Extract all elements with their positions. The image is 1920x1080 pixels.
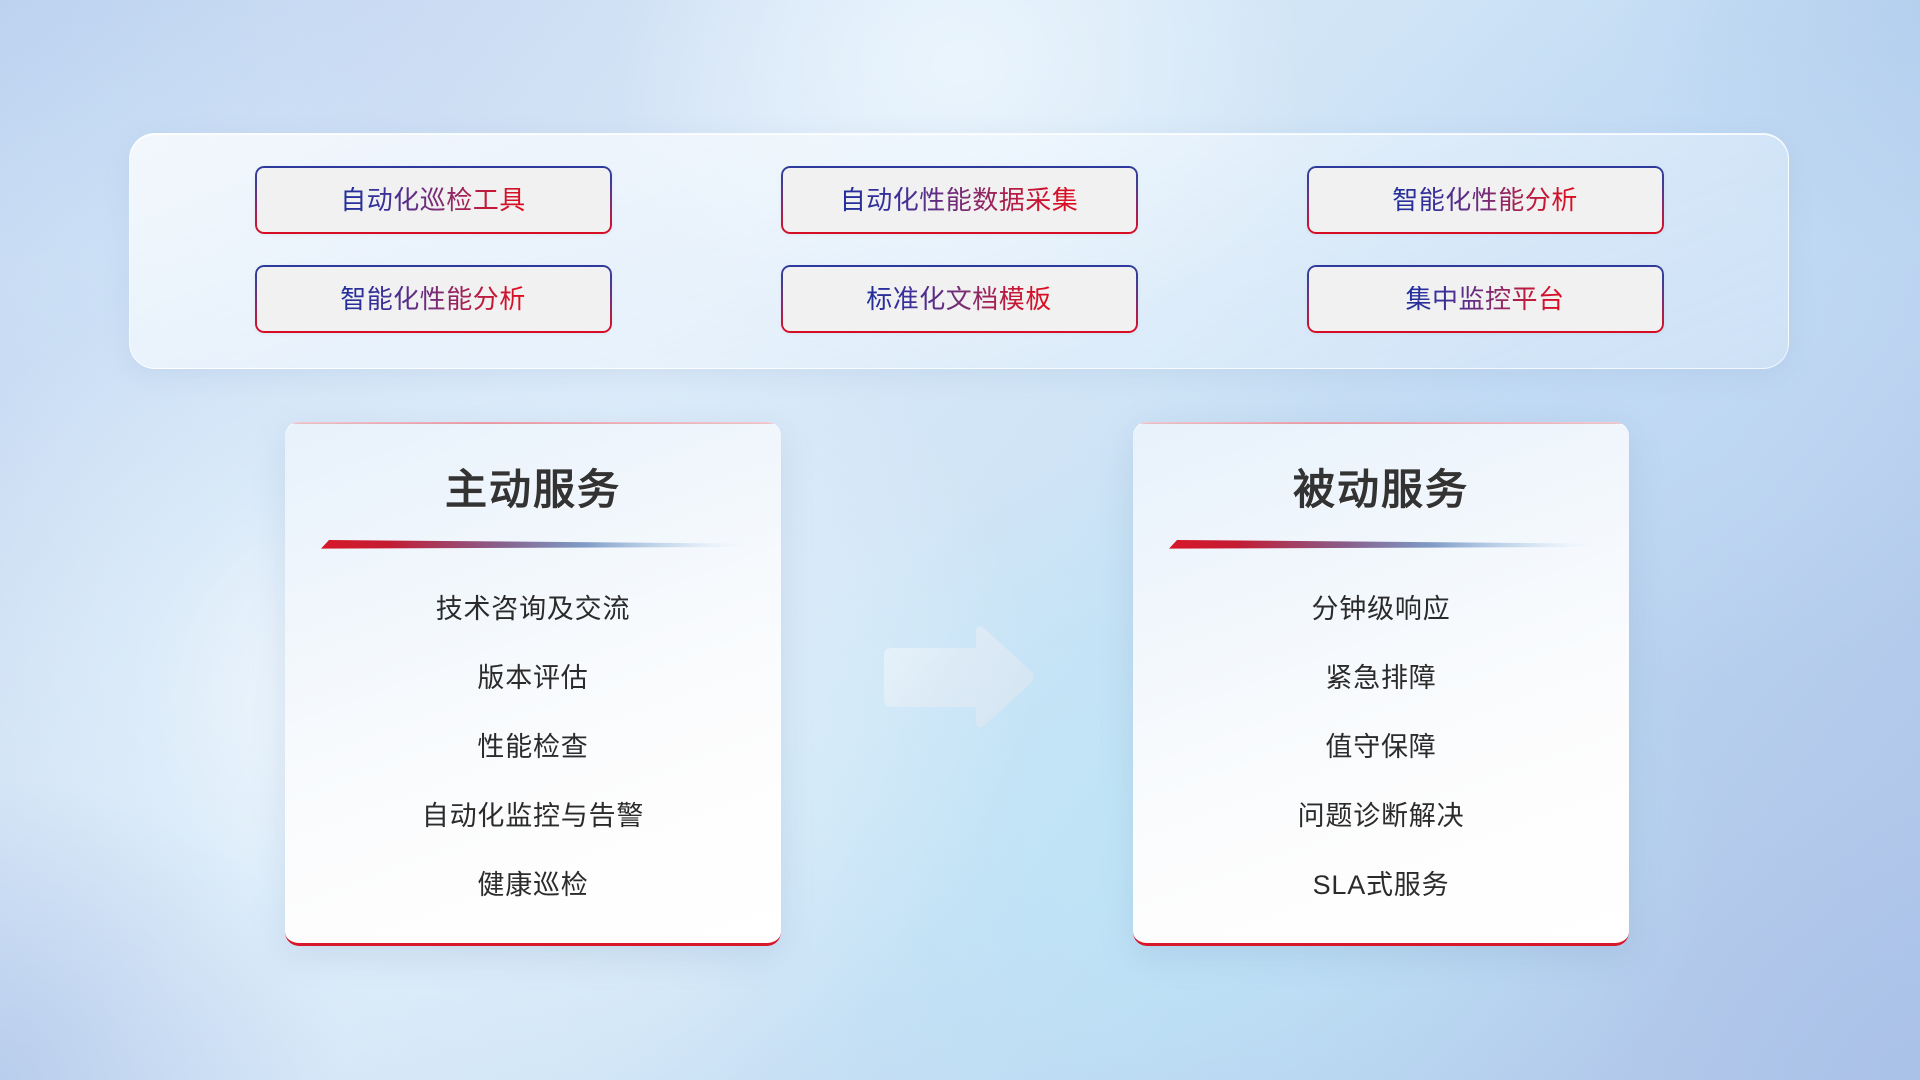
flow-arrow-icon — [878, 622, 1038, 734]
service-list-item: 技术咨询及交流 — [436, 575, 631, 644]
capability-pill[interactable]: 标准化文档模板 — [781, 265, 1138, 333]
service-list-item: 性能检查 — [477, 713, 588, 782]
service-list-item: SLA式服务 — [1313, 851, 1450, 920]
capability-pill-label: 标准化文档模板 — [866, 286, 1052, 312]
service-list-item: 问题诊断解决 — [1298, 782, 1465, 851]
card-divider-icon — [319, 539, 747, 553]
capability-pill[interactable]: 智能化性能分析 — [1307, 166, 1664, 234]
capability-pill-label: 智能化性能分析 — [1392, 187, 1578, 213]
card-title: 被动服务 — [1293, 456, 1469, 517]
diagram-canvas: 自动化巡检工具 自动化性能数据采集 智能化性能分析 智能化性能分析 标准化文档模… — [0, 0, 1920, 1080]
service-item-list: 分钟级响应 紧急排障 值守保障 问题诊断解决 SLA式服务 — [1133, 575, 1629, 920]
service-list-item: 版本评估 — [477, 644, 588, 713]
card-divider-icon — [1167, 539, 1595, 553]
service-list-item: 健康巡检 — [477, 851, 588, 920]
capability-pill[interactable]: 自动化巡检工具 — [255, 166, 612, 234]
service-list-item: 分钟级响应 — [1312, 575, 1451, 644]
capability-pill-label: 自动化巡检工具 — [340, 187, 526, 213]
capability-panel: 自动化巡检工具 自动化性能数据采集 智能化性能分析 智能化性能分析 标准化文档模… — [129, 133, 1789, 369]
capability-pill[interactable]: 自动化性能数据采集 — [781, 166, 1138, 234]
capability-pill-label: 集中监控平台 — [1405, 286, 1564, 312]
capability-pill[interactable]: 智能化性能分析 — [255, 265, 612, 333]
service-item-list: 技术咨询及交流 版本评估 性能检查 自动化监控与告警 健康巡检 — [285, 575, 781, 920]
capability-pill-label: 自动化性能数据采集 — [840, 187, 1079, 213]
service-list-item: 紧急排障 — [1325, 644, 1436, 713]
service-list-item: 自动化监控与告警 — [422, 782, 644, 851]
service-card-reactive: 被动服务 分钟级响应 紧急排障 值守保障 — [1133, 422, 1629, 946]
capability-pill-label: 智能化性能分析 — [340, 286, 526, 312]
capability-pill[interactable]: 集中监控平台 — [1307, 265, 1664, 333]
card-title: 主动服务 — [445, 456, 621, 517]
service-list-item: 值守保障 — [1325, 713, 1436, 782]
service-card-proactive: 主动服务 技术咨询及交流 版本评估 性能检查 — [285, 422, 781, 946]
